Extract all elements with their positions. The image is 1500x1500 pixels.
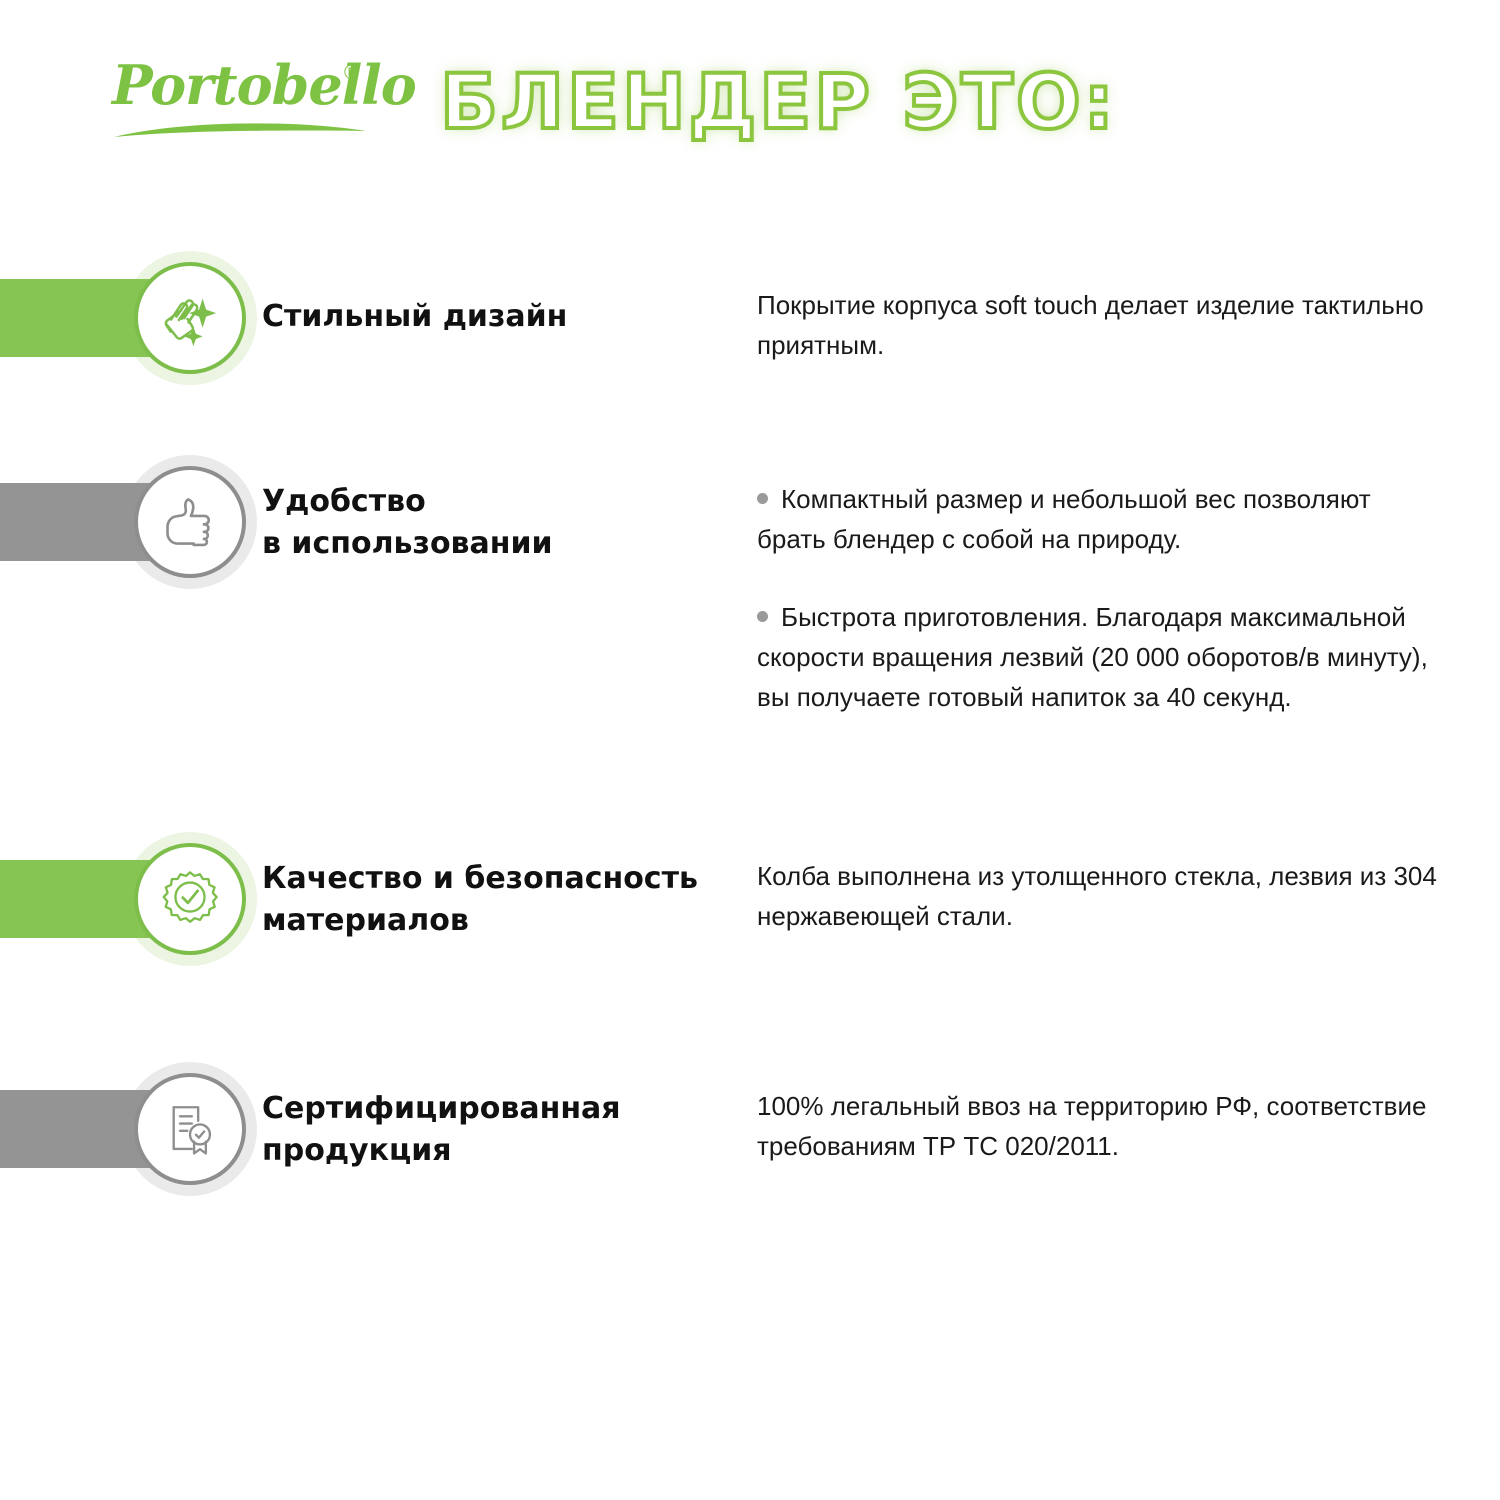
description-paragraph: Покрытие корпуса soft touch делает издел… xyxy=(757,285,1437,365)
feature-list: Стильный дизайн Покрытие корпуса soft to… xyxy=(0,0,1500,1500)
feature-description: Покрытие корпуса soft touch делает издел… xyxy=(757,285,1437,365)
feature-title: Качество и безопасность материалов xyxy=(262,858,698,942)
bullet-dot-icon xyxy=(757,493,768,504)
feature-icon-badge xyxy=(134,262,246,374)
certificate-icon xyxy=(161,1100,219,1158)
feature-icon-badge xyxy=(134,843,246,955)
feature-title: Сертифицированная продукция xyxy=(262,1088,621,1172)
description-text: Быстрота приготовления. Благодаря максим… xyxy=(757,602,1428,712)
feature-description: 100% легальный ввоз на территорию РФ, со… xyxy=(757,1086,1437,1166)
description-bullet: Компактный размер и небольшой вес позвол… xyxy=(757,479,1437,559)
description-paragraph: Колба выполнена из утолщенного стекла, л… xyxy=(757,856,1437,936)
feature-icon-badge xyxy=(134,466,246,578)
feature-title: Стильный дизайн xyxy=(262,296,567,338)
feature-description: Компактный размер и небольшой вес позвол… xyxy=(757,479,1437,717)
bullet-dot-icon xyxy=(757,611,768,622)
feature-icon-badge xyxy=(134,1073,246,1185)
feature-description: Колба выполнена из утолщенного стекла, л… xyxy=(757,856,1437,936)
description-bullet: Быстрота приготовления. Благодаря максим… xyxy=(757,597,1437,717)
quality-seal-icon xyxy=(159,868,221,930)
thumbs-up-icon xyxy=(160,492,220,552)
description-paragraph: 100% легальный ввоз на территорию РФ, со… xyxy=(757,1086,1437,1166)
sparkle-hand-icon xyxy=(159,287,221,349)
description-text: Компактный размер и небольшой вес позвол… xyxy=(757,484,1371,554)
feature-title: Удобство в использовании xyxy=(262,481,553,565)
